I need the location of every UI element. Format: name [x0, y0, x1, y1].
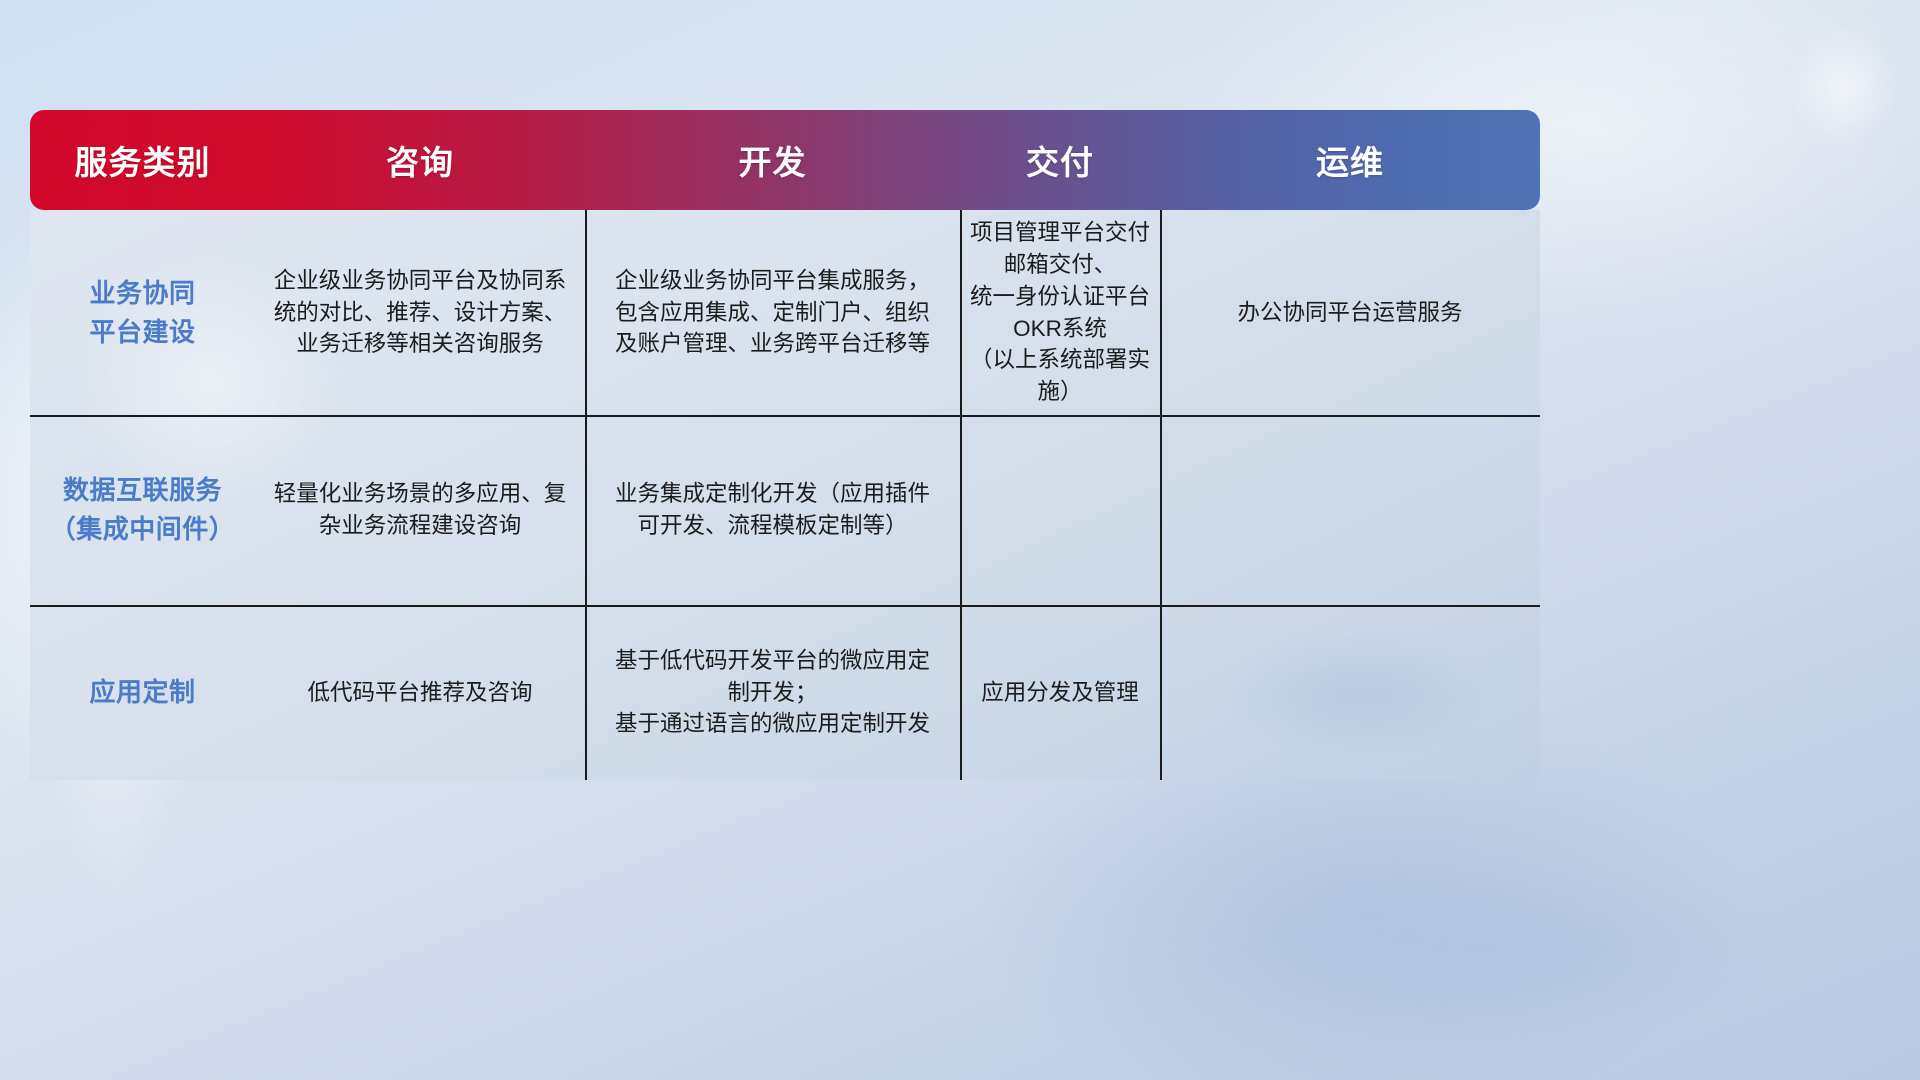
cell-consulting-row2: 轻量化业务场景的多应用、复 杂业务流程建设咨询	[255, 415, 585, 605]
matrix-header-row: 服务类别 咨询 开发 交付 运维	[30, 110, 1540, 210]
cell-consulting-row3: 低代码平台推荐及咨询	[255, 605, 585, 780]
matrix-body: 业务协同 平台建设 企业级业务协同平台及协同系 统的对比、推荐、设计方案、 业务…	[30, 210, 1540, 780]
row-label-text: 数据互联服务 （集成中间件）	[50, 471, 236, 549]
cell-delivery-row1: 项目管理平台交付 邮箱交付、 统一身份认证平台 OKR系统 （以上系统部署实施）	[960, 210, 1160, 415]
row-label-data-interconnect: 数据互联服务 （集成中间件）	[30, 415, 255, 605]
cell-operations-row2	[1160, 415, 1540, 605]
cell-delivery-row2	[960, 415, 1160, 605]
cell-operations-row1: 办公协同平台运营服务	[1160, 210, 1540, 415]
row-divider-2	[30, 605, 1540, 607]
column-divider-3	[1160, 210, 1162, 780]
cell-text: 低代码平台推荐及咨询	[307, 677, 532, 709]
row-label-text: 应用定制	[89, 673, 195, 712]
cell-text: 轻量化业务场景的多应用、复 杂业务流程建设咨询	[274, 478, 567, 542]
table-row: 应用定制 低代码平台推荐及咨询 基于低代码开发平台的微应用定 制开发； 基于通过…	[30, 605, 1540, 780]
column-divider-1	[585, 210, 587, 780]
cell-text: 办公协同平台运营服务	[1237, 297, 1462, 329]
row-label-business-collaboration: 业务协同 平台建设	[30, 210, 255, 415]
row-label-app-customization: 应用定制	[30, 605, 255, 780]
header-cell-operations: 运维	[1160, 136, 1540, 184]
cell-delivery-row3: 应用分发及管理	[960, 605, 1160, 780]
cell-development-row2: 业务集成定制化开发（应用插件 可开发、流程模板定制等）	[585, 415, 960, 605]
table-row: 数据互联服务 （集成中间件） 轻量化业务场景的多应用、复 杂业务流程建设咨询 业…	[30, 415, 1540, 605]
service-matrix-table: 服务类别 咨询 开发 交付 运维 业务协同 平台建设 企业级业务协同平台及协同系…	[30, 110, 1540, 780]
cell-text: 基于低代码开发平台的微应用定 制开发； 基于通过语言的微应用定制开发	[615, 645, 930, 741]
row-divider-1	[30, 415, 1540, 417]
cell-consulting-row1: 企业级业务协同平台及协同系 统的对比、推荐、设计方案、 业务迁移等相关咨询服务	[255, 210, 585, 415]
header-cell-development: 开发	[585, 136, 960, 184]
cell-text: 项目管理平台交付 邮箱交付、 统一身份认证平台 OKR系统 （以上系统部署实施）	[970, 217, 1150, 409]
cell-text: 企业级业务协同平台集成服务， 包含应用集成、定制门户、组织 及账户管理、业务跨平…	[615, 265, 930, 361]
row-label-text: 业务协同 平台建设	[89, 274, 195, 352]
cell-operations-row3	[1160, 605, 1540, 780]
cell-text: 业务集成定制化开发（应用插件 可开发、流程模板定制等）	[615, 478, 930, 542]
cell-development-row3: 基于低代码开发平台的微应用定 制开发； 基于通过语言的微应用定制开发	[585, 605, 960, 780]
header-cell-consulting: 咨询	[255, 136, 585, 184]
cell-text: 应用分发及管理	[981, 677, 1139, 709]
header-cell-delivery: 交付	[960, 136, 1160, 184]
header-cell-service-category: 服务类别	[30, 136, 255, 184]
cell-text: 企业级业务协同平台及协同系 统的对比、推荐、设计方案、 业务迁移等相关咨询服务	[274, 265, 567, 361]
table-row: 业务协同 平台建设 企业级业务协同平台及协同系 统的对比、推荐、设计方案、 业务…	[30, 210, 1540, 415]
cell-development-row1: 企业级业务协同平台集成服务， 包含应用集成、定制门户、组织 及账户管理、业务跨平…	[585, 210, 960, 415]
column-divider-2	[960, 210, 962, 780]
